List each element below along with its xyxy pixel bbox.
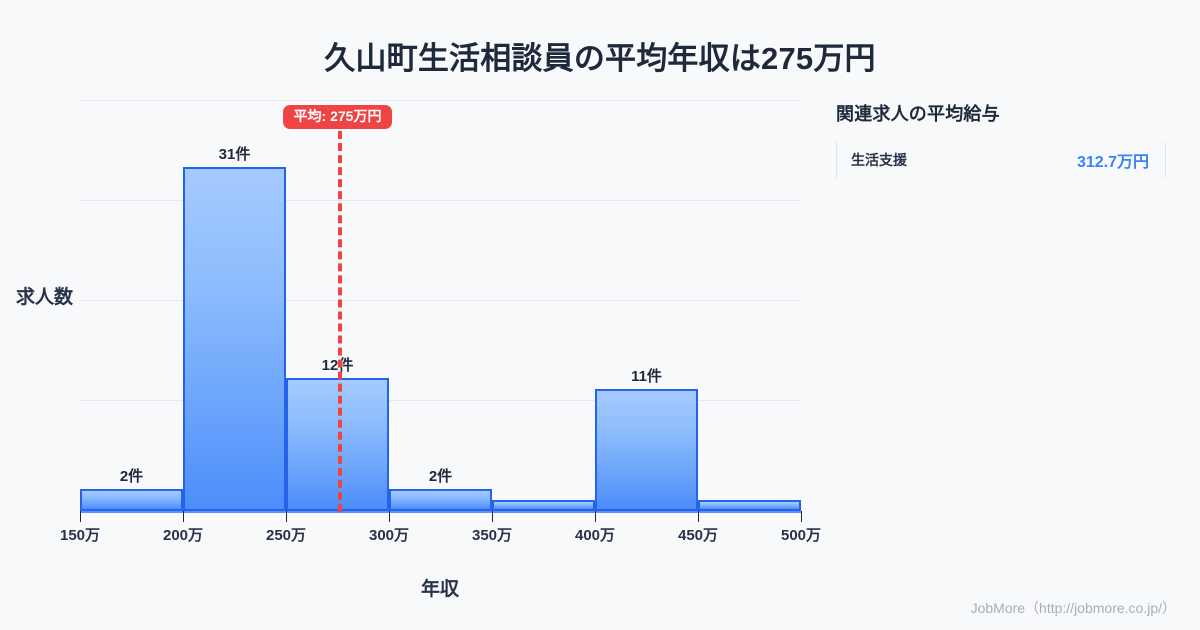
related-salary-panel: 関連求人の平均給与 生活支援312.7万円	[836, 100, 1166, 178]
y-axis-title: 求人数	[16, 282, 73, 309]
x-tick-mark	[286, 511, 287, 522]
x-tick-label: 300万	[369, 524, 409, 545]
related-salary-rows: 生活支援312.7万円	[836, 142, 1166, 178]
related-salary-row[interactable]: 生活支援312.7万円	[836, 142, 1166, 178]
x-tick-label: 500万	[781, 524, 821, 545]
related-salary-row-label: 生活支援	[851, 150, 907, 170]
x-tick-label: 450万	[678, 524, 718, 545]
related-salary-row-value: 312.7万円	[1077, 148, 1149, 172]
x-tick-mark	[492, 511, 493, 522]
x-tick-label: 350万	[472, 524, 512, 545]
watermark: JobMore（http://jobmore.co.jp/）	[971, 598, 1176, 618]
x-tick-mark	[183, 511, 184, 522]
x-tick-mark	[389, 511, 390, 522]
related-salary-heading: 関連求人の平均給与	[836, 100, 1166, 126]
x-tick-label: 400万	[575, 524, 615, 545]
mean-line	[338, 131, 342, 512]
x-tick-mark	[595, 511, 596, 522]
x-tick-mark	[698, 511, 699, 522]
chart-canvas: 久山町生活相談員の平均年収は275万円 2件31件12件2件11件 150万20…	[0, 0, 1200, 630]
x-tick-label: 200万	[163, 524, 203, 545]
x-tick-label: 250万	[266, 524, 306, 545]
x-tick-mark	[80, 511, 81, 522]
mean-badge: 平均: 275万円	[283, 105, 393, 129]
x-tick-label: 150万	[60, 524, 100, 545]
x-tick-mark	[801, 511, 802, 522]
x-axis-title: 年収	[0, 574, 880, 601]
x-axis-ticks: 150万200万250万300万350万400万450万500万	[0, 0, 1200, 630]
